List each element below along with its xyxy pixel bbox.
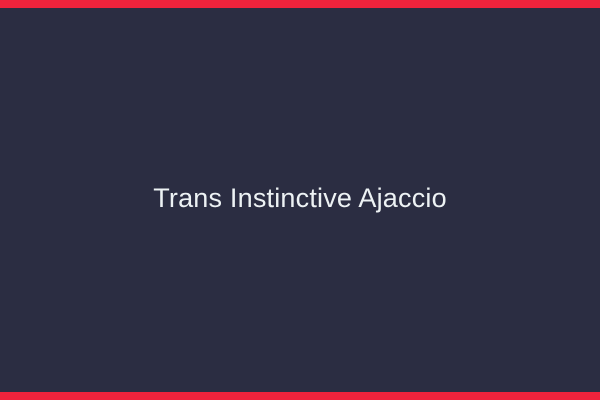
banner-title: Trans Instinctive Ajaccio: [153, 185, 447, 212]
bottom-accent-bar: [0, 392, 600, 400]
top-accent-bar: [0, 0, 600, 8]
placeholder-banner: Trans Instinctive Ajaccio: [0, 0, 600, 400]
